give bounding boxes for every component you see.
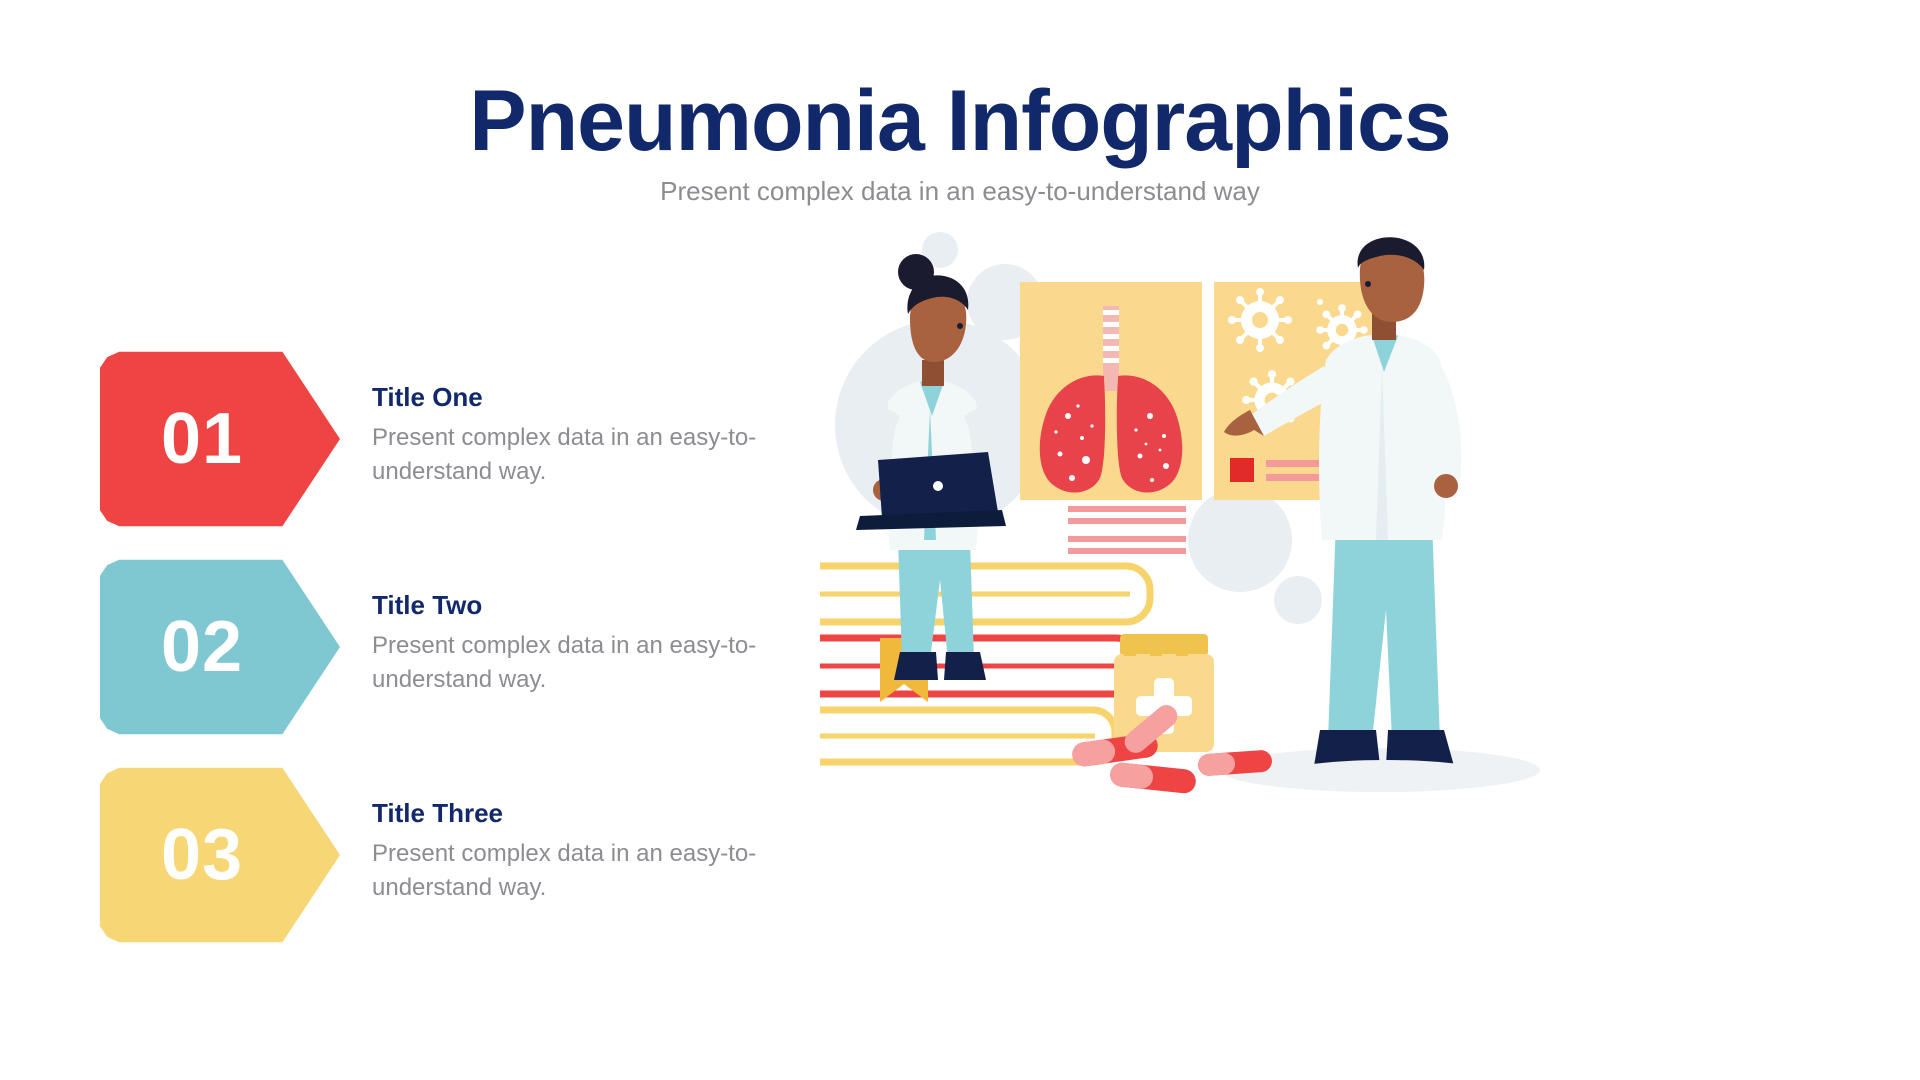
header: Pneumonia Infographics Present complex d… [0,78,1920,207]
number-badge-02[interactable]: 02 [100,558,340,736]
badge-number: 02 [161,611,243,683]
number-badge-01[interactable]: 01 [100,350,340,528]
list-item-description: Present complex data in an easy-to-under… [372,629,792,697]
badge-number: 01 [161,403,243,475]
panel-caption-lungs [1036,504,1186,554]
list-item-text: Title One Present complex data in an eas… [372,382,792,489]
badge-number: 03 [161,819,243,891]
list-item-description: Present complex data in an easy-to-under… [372,421,792,489]
list-item[interactable]: 01 Title One Present complex data in an … [100,350,800,558]
list-item[interactable]: 03 Title Three Present complex data in a… [100,766,800,974]
page-title: Pneumonia Infographics [0,78,1920,166]
xray-panel-lungs [1020,282,1202,554]
list-item-title: Title Two [372,590,792,621]
list-item[interactable]: 02 Title Two Present complex data in an … [100,558,800,766]
list-item-title: Title Three [372,798,792,829]
book-stack [820,566,1150,762]
infographic-slide: Pneumonia Infographics Present complex d… [0,0,1920,1080]
list-item-text: Title Two Present complex data in an eas… [372,590,792,697]
numbered-items-list: 01 Title One Present complex data in an … [100,350,800,974]
list-item-title: Title One [372,382,792,413]
number-badge-03[interactable]: 03 [100,766,340,944]
illustration-doctors-reviewing-lung-xrays [820,210,1900,1010]
page-subtitle: Present complex data in an easy-to-under… [0,176,1920,207]
trachea [1103,306,1119,391]
list-item-description: Present complex data in an easy-to-under… [372,837,792,905]
list-item-text: Title Three Present complex data in an e… [372,798,792,905]
